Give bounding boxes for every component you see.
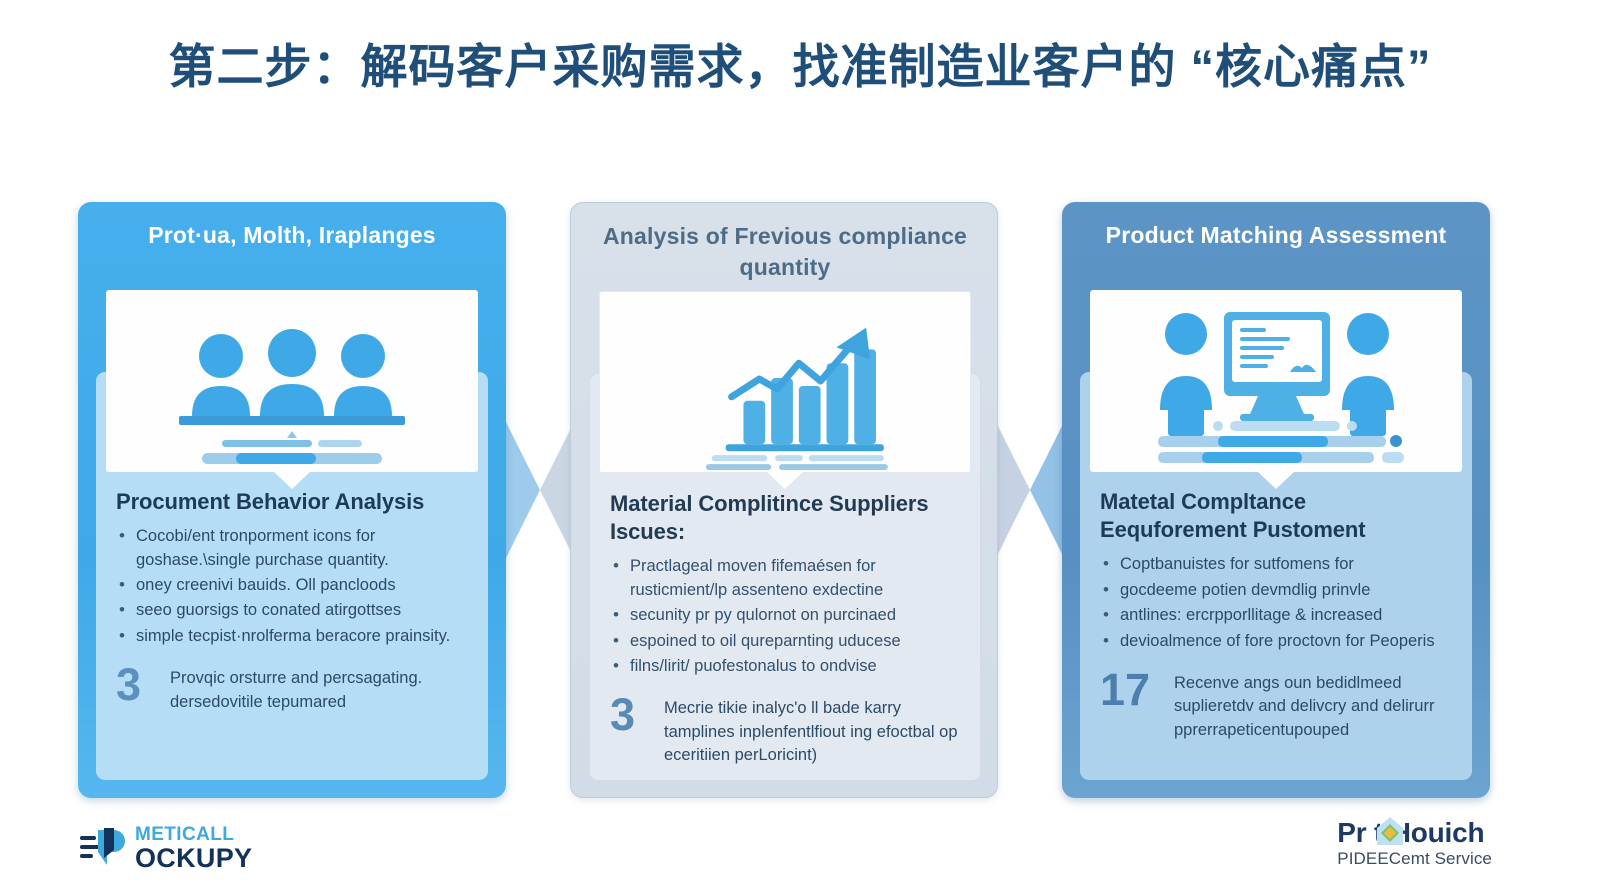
process-flow: Prot·ua, Molth, Iraplanges	[0, 202, 1600, 798]
card-3-header: Product Matching Assessment	[1088, 220, 1464, 251]
process-card-3[interactable]: Product Matching Assessment	[1062, 202, 1490, 798]
card-1-header: Prot·ua, Molth, Iraplanges	[104, 220, 480, 251]
people-monitor-review-icon	[1090, 290, 1462, 472]
card-1-bullet-list: Cocobi/ent tronporment icons for goshase…	[116, 525, 468, 648]
list-item: espoined to oil qureparnting uducese	[610, 630, 960, 653]
card-3-bullet-list: Coptbanuistes for sutfomens for gocdeeme…	[1100, 553, 1452, 653]
list-item: gocdeeme potien devmdlig prinvle	[1100, 579, 1452, 602]
page-title: 第二步：解码客户采购需求，找准制造业客户的 “核心痛点”	[0, 38, 1600, 97]
logo-left-line-top: METICALL	[135, 825, 252, 844]
list-item: Cocobi/ent tronporment icons for goshase…	[116, 525, 468, 572]
logo-right-subtitle: PIDEECemt Service	[1337, 849, 1492, 869]
card-2-header: Analysis of Frevious compliance quantity	[597, 221, 973, 282]
card-1-illustration	[106, 290, 478, 472]
card-1-stat: 3 Provqic orsturre and percsagating. der…	[116, 664, 468, 714]
list-item: secunity pr py qulornot on purcinaed	[610, 604, 960, 627]
speaker-arrow-mark-icon	[78, 822, 128, 875]
process-card-2[interactable]: Analysis of Frevious compliance quantity	[570, 202, 998, 798]
logo-left-line-bottom: OCKUPY	[135, 845, 252, 872]
card-2-body-heading: Material Complitince Suppliers Iscues:	[610, 490, 960, 546]
card-2-bullet-list: Practlageal moven fifemaésen for rusticm…	[610, 555, 960, 678]
logo-prot-houich: Pr t Houich PIDEECemt Service	[1337, 818, 1492, 869]
card-2-illustration	[599, 291, 971, 473]
list-item: oney creenivi bauids. Oll pancloods	[116, 574, 468, 597]
card-1-stat-number: 3	[116, 664, 170, 705]
list-item: seeo guorsigs to conated atirgottses	[116, 599, 468, 622]
card-3-stat-number: 17	[1100, 669, 1174, 710]
card-2-stat-number: 3	[610, 694, 664, 735]
card-1-stat-text: Provqic orsturre and percsagating. derse…	[170, 664, 468, 714]
card-3-illustration	[1090, 290, 1462, 472]
card-3-stat-text: Recenve angs oun bedidlmeed suplieretdv …	[1174, 669, 1452, 742]
list-item: antlines: ercrpporllitage & increased	[1100, 604, 1452, 627]
logo-meticall-ockupy: METICALL OCKUPY	[78, 822, 252, 875]
process-card-1[interactable]: Prot·ua, Molth, Iraplanges	[78, 202, 506, 798]
house-diamond-mark-icon	[1373, 814, 1407, 853]
three-people-icon	[106, 290, 478, 472]
list-item: Coptbanuistes for sutfomens for	[1100, 553, 1452, 576]
logo-right-name-row: Pr t Houich	[1337, 818, 1492, 847]
card-2-stat-text: Mecrie tikie inalyc'o ll bade karry tamp…	[664, 694, 960, 767]
list-item: filns/lirit/ puofestonalus to ondvise	[610, 655, 960, 678]
card-2-stat: 3 Mecrie tikie inalyc'o ll bade karry ta…	[610, 694, 960, 767]
list-item: simple tecpist·nrolferma beracore prains…	[116, 625, 468, 648]
logo-left-wordmark: METICALL OCKUPY	[135, 825, 252, 872]
card-1-body-heading: Procument Behavior Analysis	[116, 488, 468, 516]
logo-right-name: Pr t Houich	[1337, 818, 1484, 847]
list-item: devioalmence of fore proctovn for Peoper…	[1100, 630, 1452, 653]
card-3-stat: 17 Recenve angs oun bedidlmeed suplieret…	[1100, 669, 1452, 742]
card-3-body-heading: Matetal Compltance Eequforement Pustomen…	[1100, 488, 1452, 544]
bar-chart-growth-icon	[600, 292, 970, 472]
list-item: Practlageal moven fifemaésen for rusticm…	[610, 555, 960, 602]
